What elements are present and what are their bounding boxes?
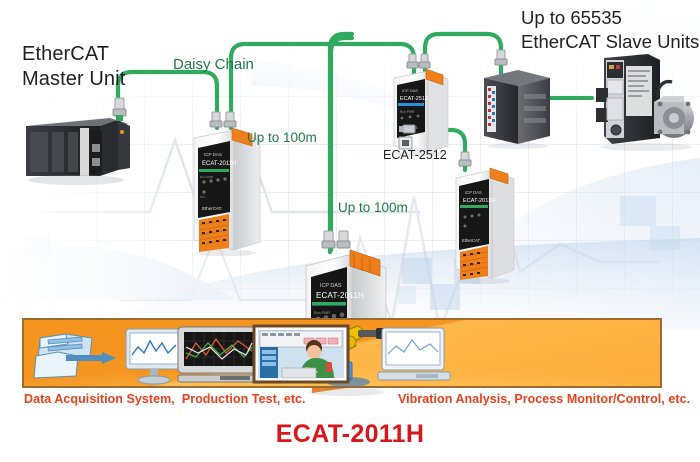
svg-text:ICP DAS: ICP DAS — [402, 88, 418, 93]
svg-text:EtherCAT.: EtherCAT. — [202, 206, 222, 211]
applications-banner — [22, 318, 662, 388]
rj45-plugs-center-module — [320, 228, 356, 254]
svg-text:Run PWR: Run PWR — [314, 311, 330, 315]
svg-text:ICP DAS: ICP DAS — [204, 152, 222, 157]
diagram-canvas: ICP DAS ECAT-2011H Run PWR Port EtherCAT… — [0, 0, 700, 462]
label-distance-mid: Up to 100m — [338, 200, 408, 215]
application-caption-left: Data Acquisition System, Production Test… — [24, 392, 306, 406]
label-ecat-2512: ECAT-2512 — [383, 148, 447, 162]
label-daisy-chain: Daisy Chain — [173, 56, 254, 73]
label-distance-top: Up to 100m — [247, 130, 317, 145]
product-title: ECAT-2011H — [0, 420, 700, 449]
rj45-plug-io-block — [492, 48, 514, 70]
svg-text:ECAT-2011H: ECAT-2011H — [463, 198, 495, 204]
ecat-2011h-left: ICP DAS ECAT-2011H Run PWR Port EtherCAT… — [182, 126, 274, 261]
rj45-plugs-left-module — [209, 108, 243, 134]
svg-text:ECAT-2011H: ECAT-2011H — [316, 291, 364, 300]
servo-drive-and-motor — [586, 52, 698, 159]
rj45-plug-ecat2512-front — [397, 122, 423, 138]
svg-text:ICP DAS: ICP DAS — [465, 190, 482, 195]
svg-text:ECAT-2512: ECAT-2512 — [400, 96, 428, 102]
operator-hmi-photo-icon — [252, 324, 352, 386]
ecat-2011h-right: ICP DAS ECAT-2011H EtherCAT. — [446, 164, 530, 289]
ethercat-slave-io-block — [478, 62, 556, 155]
svg-text:Port: Port — [200, 195, 206, 199]
label-ethercat-master-unit: EtherCAT Master Unit — [22, 42, 125, 92]
svg-text:Run PWR: Run PWR — [400, 110, 415, 114]
svg-text:ICP DAS: ICP DAS — [320, 283, 342, 289]
rj45-plugs-ecat2512 — [406, 52, 436, 74]
rj45-plug-right-module — [456, 150, 478, 170]
svg-text:EtherCAT.: EtherCAT. — [462, 238, 481, 243]
svg-text:ECAT-2011H: ECAT-2011H — [202, 161, 236, 167]
rj45-plug-master — [108, 96, 132, 126]
svg-text:Run PWR: Run PWR — [200, 175, 214, 179]
application-caption-right: Vibration Analysis, Process Monitor/Cont… — [398, 392, 690, 406]
ecat-2512: ICP DAS ECAT-2512 Run PWR EtherCAT. — [386, 66, 466, 161]
label-ethercat-slave-units: Up to 65535 EtherCAT Slave Units — [521, 6, 699, 54]
pc-workstation-icon — [376, 326, 456, 386]
